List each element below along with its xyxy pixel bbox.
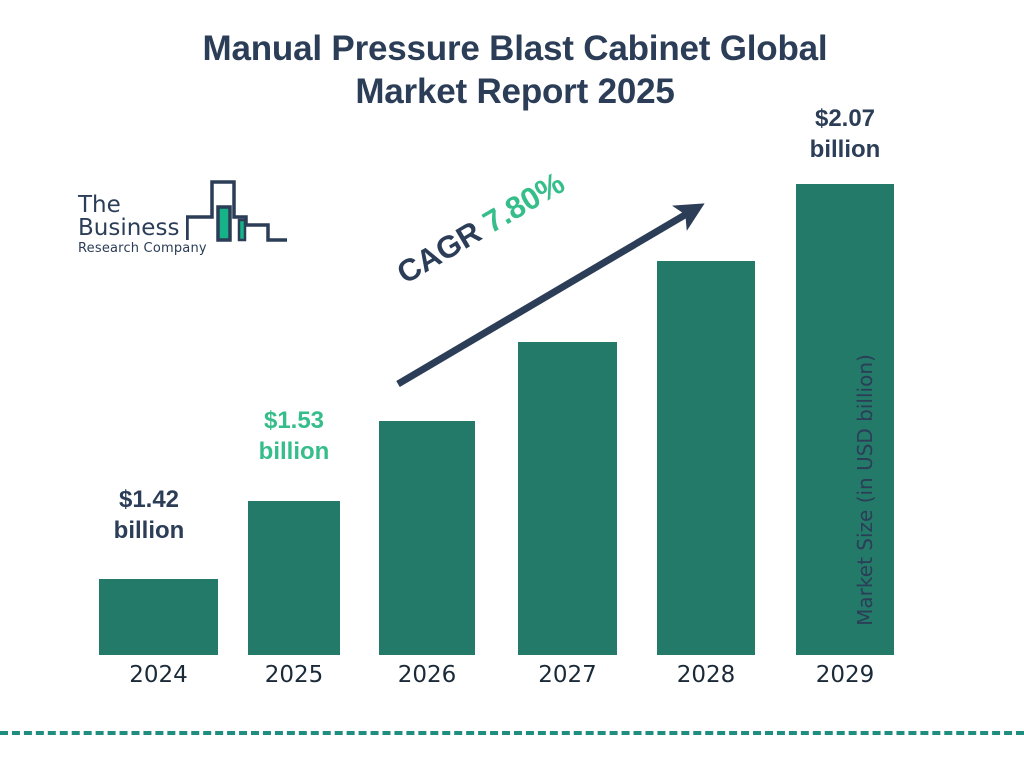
bar-2028 — [657, 261, 755, 655]
value-label-2024-unit: billion — [79, 516, 219, 547]
value-label-2025-amount: $1.53 — [224, 406, 364, 437]
bar-2026 — [379, 421, 475, 655]
value-label-2024-amount: $1.42 — [79, 485, 219, 516]
value-label-2024: $1.42 billion — [79, 485, 219, 546]
value-label-2029-amount: $2.07 — [775, 104, 915, 135]
bar-2024 — [99, 579, 218, 655]
x-tick-2027: 2027 — [518, 662, 617, 688]
value-label-2025: $1.53 billion — [224, 406, 364, 467]
x-tick-2028: 2028 — [657, 662, 755, 688]
value-label-2029: $2.07 billion — [775, 104, 915, 165]
x-tick-2024: 2024 — [99, 662, 218, 688]
bottom-divider — [0, 731, 1024, 735]
bar-2025 — [248, 501, 340, 655]
x-tick-2029: 2029 — [796, 662, 894, 688]
bar-2027 — [518, 342, 617, 655]
y-axis-title: Market Size (in USD billion) — [853, 330, 877, 650]
x-tick-2026: 2026 — [379, 662, 475, 688]
bar-2029 — [796, 184, 894, 655]
chart-page: Manual Pressure Blast Cabinet Global Mar… — [0, 0, 1024, 768]
value-label-2025-unit: billion — [224, 437, 364, 468]
x-tick-2025: 2025 — [244, 662, 344, 688]
value-label-2029-unit: billion — [775, 135, 915, 166]
